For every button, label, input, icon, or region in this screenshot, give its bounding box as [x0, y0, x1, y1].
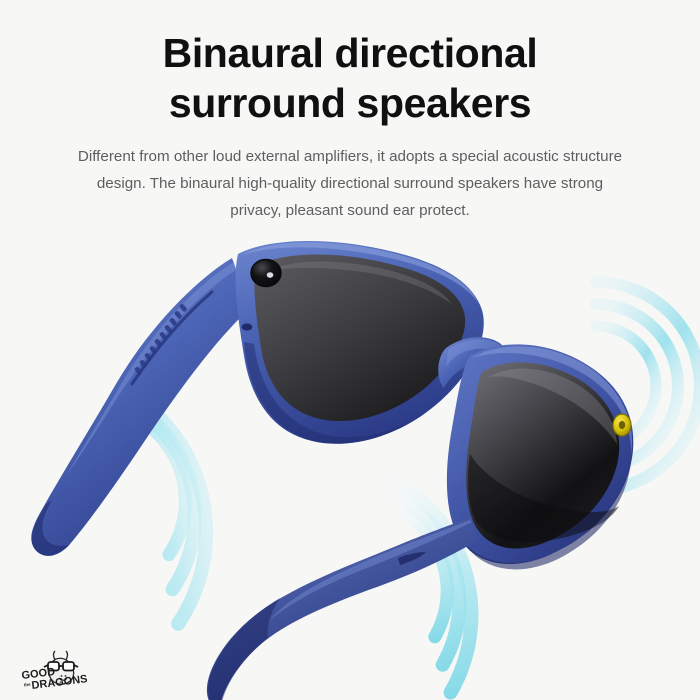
feature-description: Different from other loud external ampli… [72, 143, 628, 224]
product-image [0, 222, 700, 700]
multifunction-button[interactable] [251, 260, 281, 287]
microphone-port [242, 323, 253, 330]
page-title: Binaural directional surround speakers [0, 28, 700, 128]
product-feature-card: Binaural directional surround speakers D… [0, 0, 700, 700]
logo-connector: the [24, 682, 32, 688]
hinge-screw [613, 414, 631, 436]
good-dragons-logo[interactable]: GOOD the DRAGONS [22, 645, 102, 691]
